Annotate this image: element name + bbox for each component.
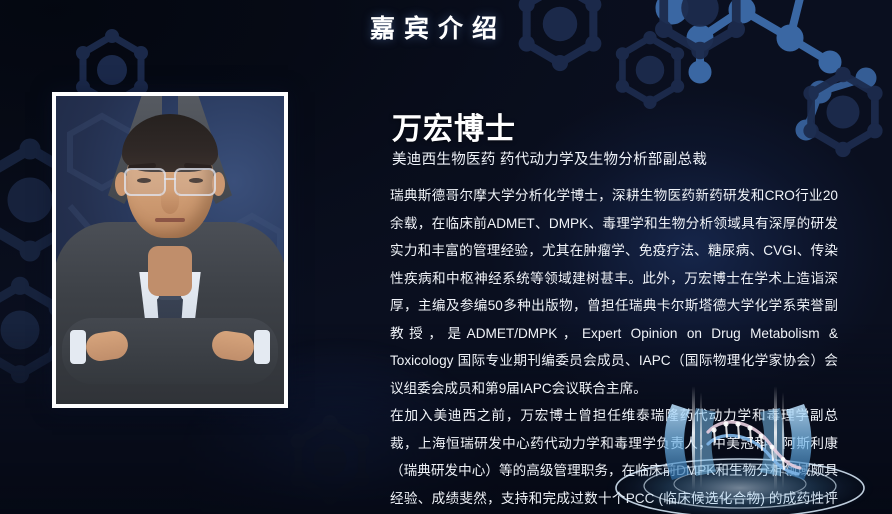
guest-introduction-slide: 嘉宾介绍 xyxy=(0,0,892,514)
speaker-name: 万宏博士 xyxy=(392,104,516,148)
shirt-cuff-left xyxy=(70,330,86,364)
mouth xyxy=(155,218,185,222)
eyeglass-bridge xyxy=(164,178,176,180)
page-title: 嘉宾介绍 xyxy=(370,9,506,45)
nose xyxy=(161,190,179,214)
bio-paragraph: 在加入美迪西之前，万宏博士曾担任维泰瑞隆药代动力学和毒理学副总裁，上海恒瑞研发中… xyxy=(390,402,838,514)
bio-paragraph: 瑞典斯德哥尔摩大学分析化学博士，深耕生物医药新药研发和CRO行业20余载，在临床… xyxy=(390,182,838,402)
neck xyxy=(148,246,192,296)
speaker-role: 美迪西生物医药 药代动力学及生物分析部副总裁 xyxy=(392,148,707,169)
eyeglass-lens-left xyxy=(124,168,166,196)
speaker-bio: 瑞典斯德哥尔摩大学分析化学博士，深耕生物医药新药研发和CRO行业20余载，在临床… xyxy=(390,182,838,514)
speaker-photo-frame xyxy=(52,92,288,408)
shirt-cuff-right xyxy=(254,330,270,364)
speaker-photo xyxy=(56,96,284,404)
eyeglass-lens-right xyxy=(174,168,216,196)
speaker-portrait-figure xyxy=(56,96,284,404)
